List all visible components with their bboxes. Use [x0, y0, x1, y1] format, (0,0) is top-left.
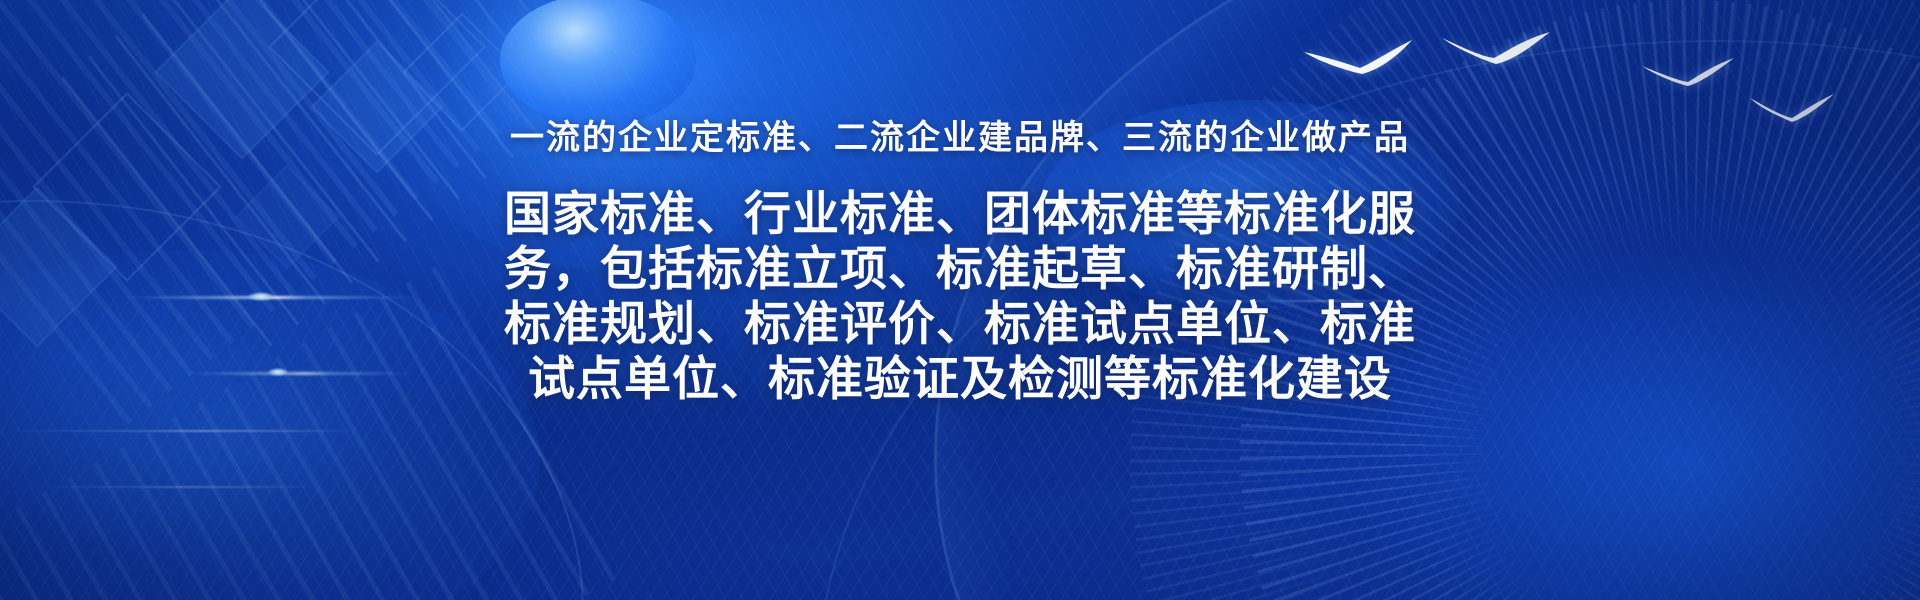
banner-body-line: 国家标准、行业标准、团体标准等标准化服 — [440, 187, 1480, 242]
banner-body-line: 标准规划、标准评价、标准试点单位、标准 — [440, 297, 1480, 352]
banner-body: 国家标准、行业标准、团体标准等标准化服 务，包括标准立项、标准起草、标准研制、 … — [440, 187, 1480, 407]
promo-banner: 一流的企业定标准、二流企业建品牌、三流的企业做产品 国家标准、行业标准、团体标准… — [0, 0, 1920, 600]
banner-body-line: 务，包括标准立项、标准起草、标准研制、 — [440, 242, 1480, 297]
banner-text-wrap: 一流的企业定标准、二流企业建品牌、三流的企业做产品 国家标准、行业标准、团体标准… — [0, 0, 1920, 600]
banner-body-line: 试点单位、标准验证及检测等标准化建设 — [440, 352, 1480, 407]
banner-headline: 一流的企业定标准、二流企业建品牌、三流的企业做产品 — [510, 110, 1410, 159]
